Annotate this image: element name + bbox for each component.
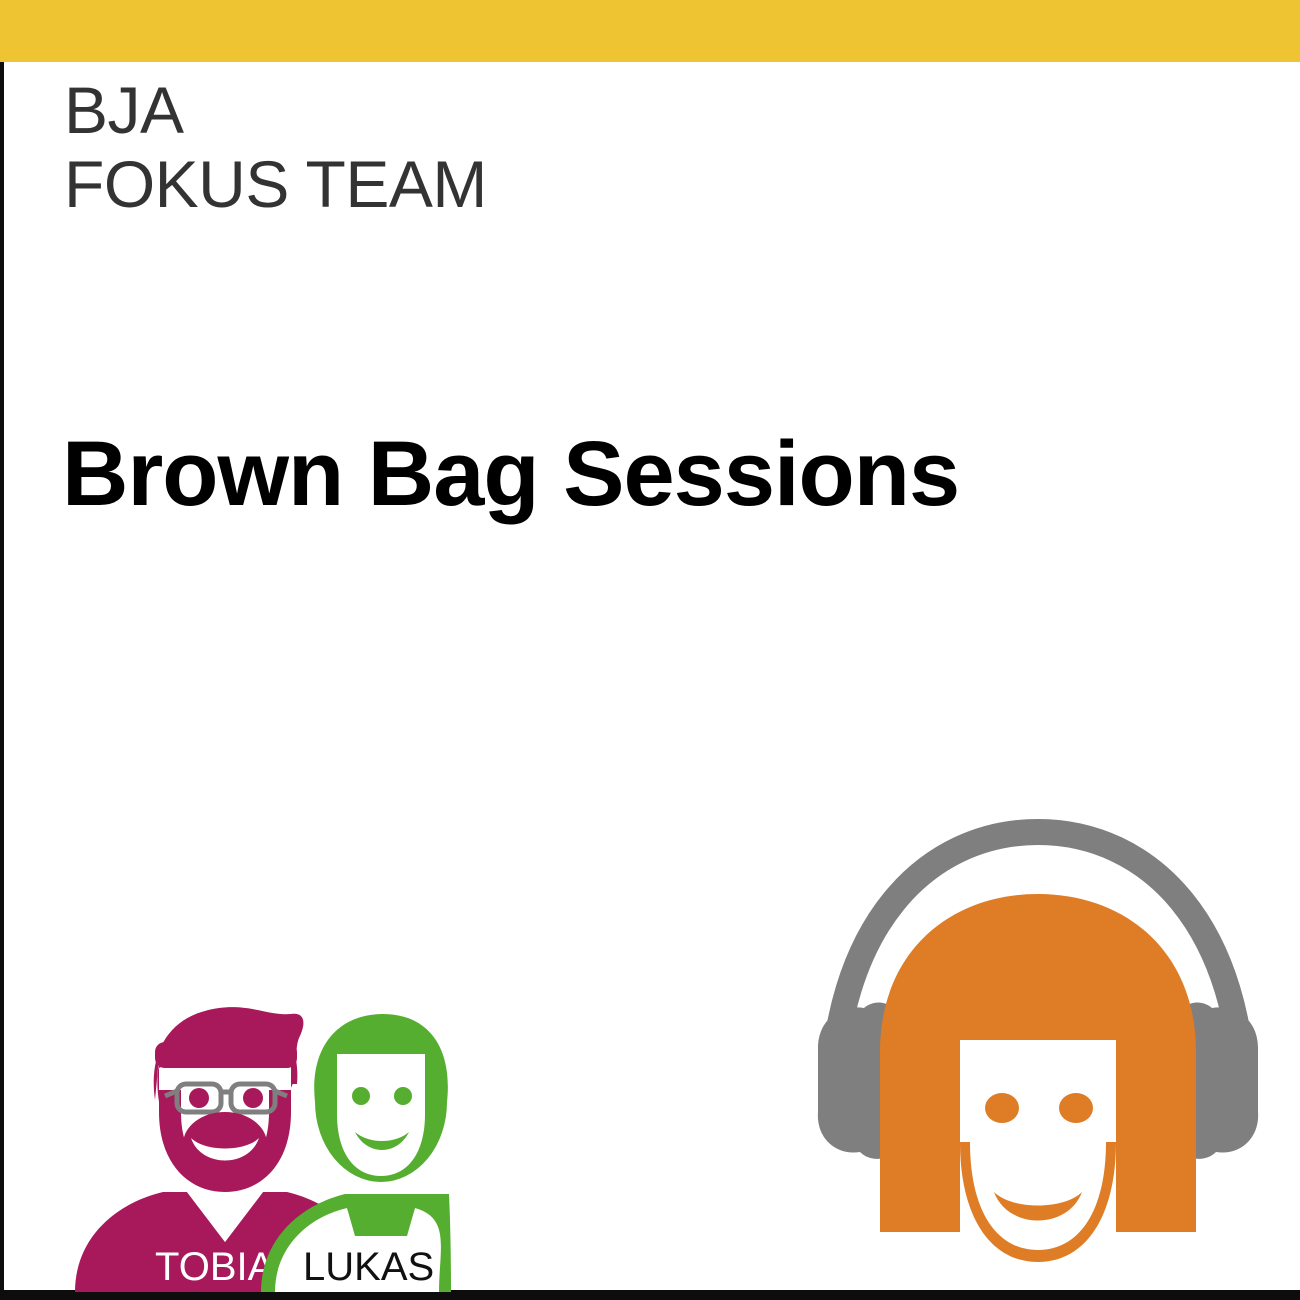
page-title: Brown Bag Sessions [62,424,1242,525]
tobias-eye-left [189,1088,209,1108]
slide-canvas: BJA FOKUS TEAM Brown Bag Sessions [0,0,1300,1300]
lukas-eye-left [352,1087,370,1105]
lukas-name-label: LUKAS [303,1245,434,1289]
top-accent-band [0,0,1300,62]
left-border-rule [0,62,4,1294]
avatar-pair-icon: TOBIAS LUKAS [55,992,455,1292]
tobias-eye-right [243,1088,263,1108]
lukas-eye-right [394,1087,412,1105]
listener-eye-left [985,1093,1019,1123]
lukas-face [337,1054,425,1176]
organization-eyebrow: BJA FOKUS TEAM [64,74,964,222]
listener-headphones-icon [798,812,1278,1292]
listener-eye-right [1059,1093,1093,1123]
